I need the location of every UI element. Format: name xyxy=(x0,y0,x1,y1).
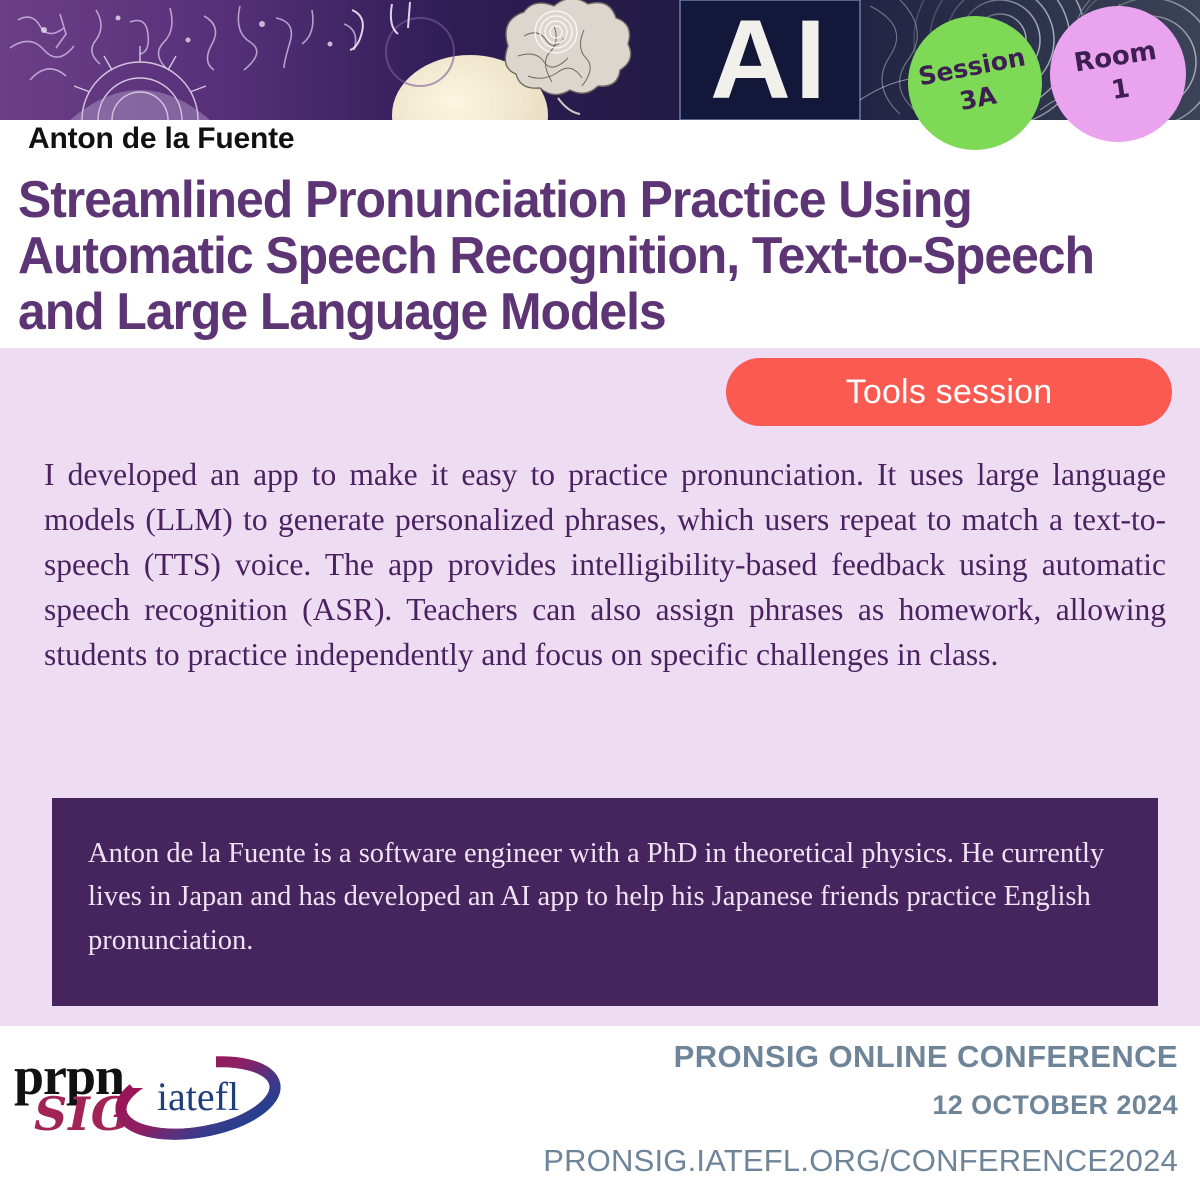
presenter-bio-text: Anton de la Fuente is a software enginee… xyxy=(88,832,1122,962)
footer-conference-info: PRONSIG ONLINE CONFERENCE 12 OCTOBER 202… xyxy=(543,1038,1178,1179)
footer-conference-name: PRONSIG ONLINE CONFERENCE xyxy=(543,1038,1178,1075)
presenter-name: Anton de la Fuente xyxy=(28,122,294,156)
session-badge-line2: 3A xyxy=(958,82,999,115)
session-title: Streamlined Pronunciation Practice Using… xyxy=(18,172,1141,340)
session-type-label: Tools session xyxy=(846,373,1053,412)
room-badge-line2: 1 xyxy=(1110,76,1132,106)
footer-conference-date: 12 OCTOBER 2024 xyxy=(543,1089,1178,1121)
poster-footer: prpn SIG iatefl PRONSIG ONLINE CONFERENC… xyxy=(0,1026,1200,1200)
footer-conference-url[interactable]: PRONSIG.IATEFL.ORG/CONFERENCE2024 xyxy=(543,1142,1178,1179)
session-body-panel: Tools session I developed an app to make… xyxy=(0,348,1200,1026)
session-poster: AI Session 3A xyxy=(0,0,1200,1200)
pronsig-iatefl-logo: prpn SIG iatefl xyxy=(8,1046,308,1166)
banner-ai-text: AI xyxy=(710,0,830,120)
room-badge-line1: Room xyxy=(1072,38,1158,78)
presenter-bio-box: Anton de la Fuente is a software enginee… xyxy=(52,798,1158,1006)
logo-iatefl-text: iatefl xyxy=(157,1074,239,1119)
session-abstract: I developed an app to make it easy to pr… xyxy=(44,452,1166,677)
session-badge-line1: Session xyxy=(916,44,1027,90)
session-type-badge: Tools session xyxy=(726,358,1172,426)
